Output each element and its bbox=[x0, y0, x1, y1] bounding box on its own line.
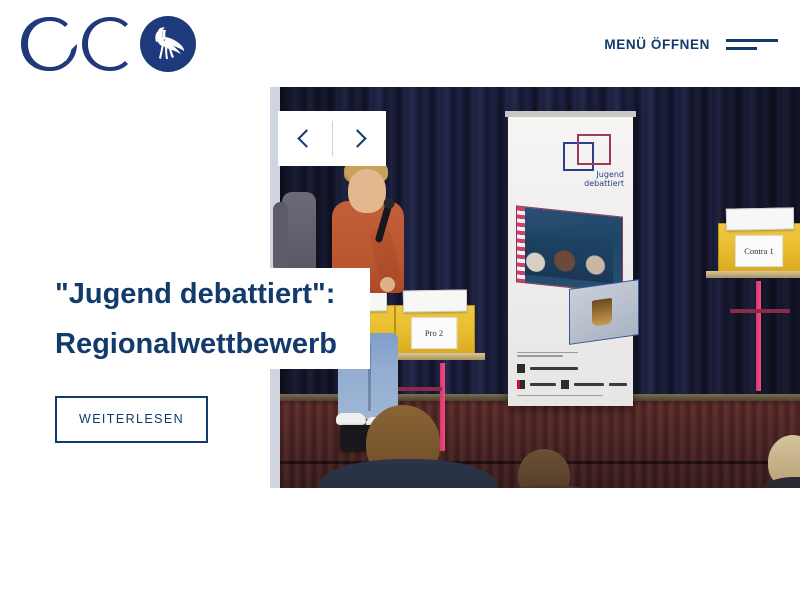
logo-svg bbox=[20, 12, 200, 76]
hamburger-icon bbox=[726, 38, 778, 52]
carousel-navigation bbox=[278, 111, 386, 166]
menu-toggle-label: MENÜ ÖFFNEN bbox=[604, 38, 710, 52]
site-header: MENÜ ÖFFNEN bbox=[0, 0, 800, 87]
read-more-button[interactable]: WEITERLESEN bbox=[55, 396, 208, 443]
site-logo[interactable] bbox=[20, 12, 200, 76]
hero-title-line-1: "Jugend debattiert": bbox=[55, 278, 335, 310]
chevron-left-icon bbox=[297, 129, 315, 147]
page-root: MENÜ ÖFFNEN Jugend debattiert bbox=[0, 0, 800, 600]
carousel-prev-button[interactable] bbox=[278, 111, 332, 166]
menu-toggle-button[interactable]: MENÜ ÖFFNEN bbox=[604, 33, 778, 57]
chevron-right-icon bbox=[349, 129, 367, 147]
carousel-next-button[interactable] bbox=[333, 111, 387, 166]
hero-text-panel: "Jugend debattiert": Regionalwettbewerb bbox=[0, 268, 370, 369]
hero-title: "Jugend debattiert": Regionalwettbewerb bbox=[0, 269, 337, 369]
hero-title-line-2: Regionalwettbewerb bbox=[55, 328, 337, 360]
